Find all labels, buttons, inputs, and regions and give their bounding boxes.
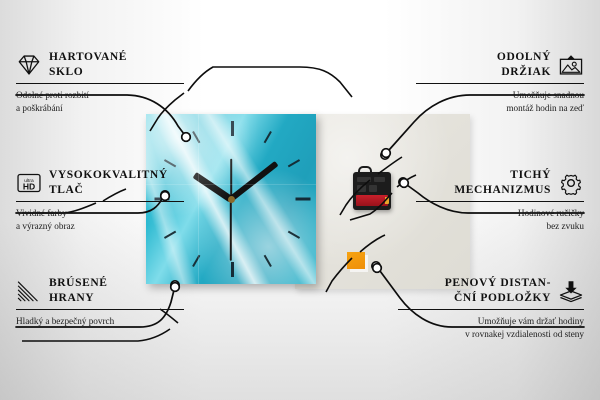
- clock-mechanism: [353, 172, 391, 210]
- feature-title: HARTOVANÉ SKLO: [49, 50, 127, 79]
- feature-durable-holder: ODOLNÝ DRŽIAK Umožňuje snadnou montáž ho…: [416, 50, 584, 115]
- diamond-icon: [16, 53, 42, 77]
- clock-second-hand-tail: [230, 159, 232, 199]
- press-down-pads-icon: [558, 279, 584, 303]
- mechanism-hook: [358, 166, 372, 175]
- feature-tempered-glass: HARTOVANÉ SKLO Odolné proti rozbití a po…: [16, 50, 184, 115]
- hatched-edge-icon: [16, 279, 42, 303]
- clock-minute-hand: [229, 161, 278, 201]
- feature-description: Hodinové ručičky bez zvuku: [416, 207, 584, 232]
- gear-icon: [558, 171, 584, 195]
- battery: [356, 195, 388, 206]
- clock-second-hand: [230, 199, 232, 261]
- divider: [416, 201, 584, 202]
- ultra-hd-icon: ultra HD: [16, 171, 42, 195]
- feature-description: Odolné proti rozbití a poškrábání: [16, 89, 184, 114]
- feature-title: VYSOKOKVALITNÝ TLAČ: [49, 168, 168, 197]
- divider: [398, 309, 584, 310]
- promo-infographic: HARTOVANÉ SKLO Odolné proti rozbití a po…: [0, 0, 600, 400]
- feature-title: TICHÝ MECHANIZMUS: [454, 168, 551, 197]
- clock-pivot: [228, 196, 235, 203]
- feature-title: PENOVÝ DISTAN- ČNÍ PODLOŽKY: [445, 276, 551, 305]
- svg-text:HD: HD: [23, 181, 35, 191]
- feature-description: Vividné farby a výrazný obraz: [16, 207, 184, 232]
- feature-title: BRÚSENÉ HRANY: [49, 276, 108, 305]
- picture-frame-hook-icon: [558, 53, 584, 77]
- divider: [16, 83, 184, 84]
- feature-foam-spacers: PENOVÝ DISTAN- ČNÍ PODLOŽKY Umožňuje vám…: [398, 276, 584, 341]
- divider: [16, 201, 184, 202]
- feature-title: ODOLNÝ DRŽIAK: [497, 50, 551, 79]
- clock-hour-hand: [193, 171, 233, 201]
- feature-description: Hladký a bezpečný povrch: [16, 315, 184, 328]
- feature-ground-edges: BRÚSENÉ HRANY Hladký a bezpečný povrch: [16, 276, 184, 328]
- divider: [16, 309, 184, 310]
- foam-spacer-pad: [347, 252, 365, 269]
- feature-silent-mechanism: TICHÝ MECHANIZMUS Hodinové ručičky bez z…: [416, 168, 584, 233]
- divider: [416, 83, 584, 84]
- feature-description: Umožňuje snadnou montáž hodin na zeď: [416, 89, 584, 114]
- feature-high-quality-print: ultra HD VYSOKOKVALITNÝ TLAČ Vividné far…: [16, 168, 184, 233]
- feature-description: Umožňuje vám držať hodiny v rovnakej vzd…: [398, 315, 584, 340]
